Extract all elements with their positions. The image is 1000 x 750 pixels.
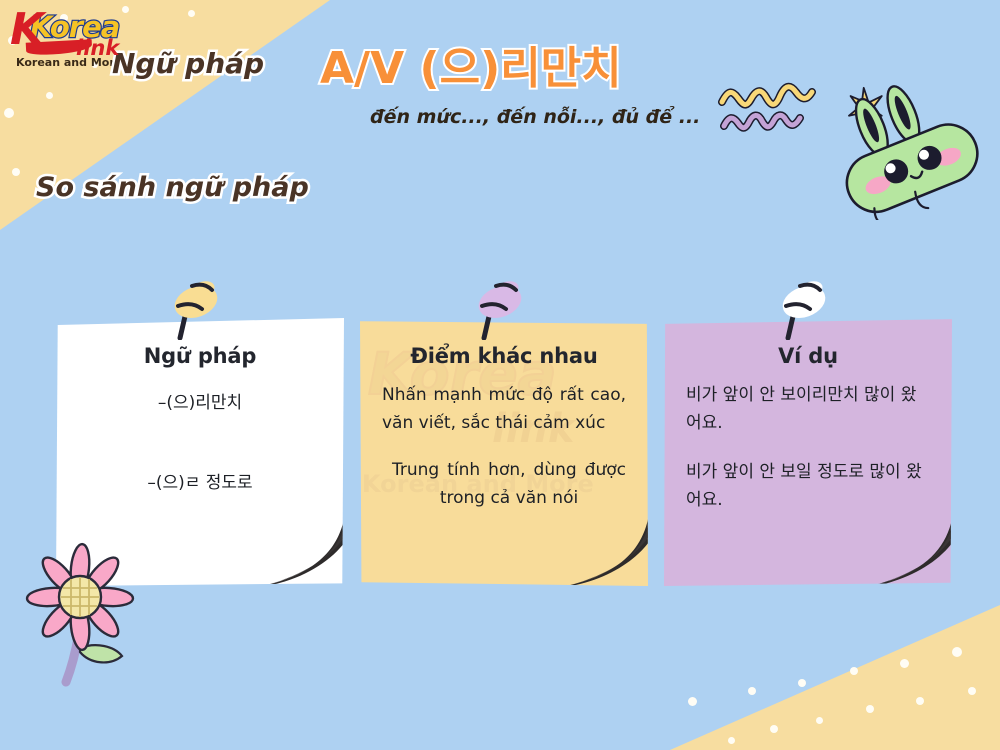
wedge-triangle xyxy=(670,605,1000,750)
polka-dot xyxy=(900,659,909,668)
polka-dot xyxy=(850,667,858,675)
card-title: Ví dụ xyxy=(686,344,930,368)
polka-dot xyxy=(816,717,823,724)
polka-dot xyxy=(46,92,53,99)
polka-dot xyxy=(968,687,976,695)
slide-canvas: Korea K link Korean and More Ngữ pháp A/… xyxy=(0,0,1000,750)
section-heading: So sánh ngữ pháp xyxy=(36,172,309,203)
polka-dot xyxy=(748,687,756,695)
page-curl xyxy=(557,514,649,588)
card-line-2: –(으)ㄹ 정도로 xyxy=(78,470,322,498)
corner-wedge-bottom-right xyxy=(670,605,1000,750)
topic-label: Ngữ pháp xyxy=(112,47,264,80)
white-pushpin xyxy=(764,276,836,340)
purple-pushpin xyxy=(460,276,532,340)
card-title: Điểm khác nhau xyxy=(382,344,626,368)
polka-dot xyxy=(866,705,874,713)
polka-dot xyxy=(188,10,195,17)
polka-dot xyxy=(12,168,20,176)
polka-dot xyxy=(916,697,924,705)
comparison-card-differences[interactable]: Korea link Korean and More Điểm khác nha… xyxy=(360,318,648,586)
green-bunny-mascot xyxy=(828,80,988,220)
card-line-2: Trung tính hơn, dùng được trong cả văn n… xyxy=(382,457,626,512)
card-title: Ngữ pháp xyxy=(78,344,322,368)
card-body: Điểm khác nhau Nhấn mạnh mức độ rất cao,… xyxy=(382,344,626,512)
polka-dot xyxy=(688,697,697,706)
polka-dot xyxy=(728,737,735,744)
squiggle-decoration xyxy=(718,78,828,138)
comparison-card-examples[interactable]: Ví dụ 비가 앞이 안 보이리만치 많이 왔어요. 비가 앞이 안 보일 정… xyxy=(664,318,952,586)
logo-k-letter: K xyxy=(10,4,44,55)
logo-link-text: link xyxy=(76,36,119,60)
card-line-1: 비가 앞이 안 보이리만치 많이 왔어요. xyxy=(686,382,930,437)
card-line-1: –(으)리만치 xyxy=(78,390,322,418)
page-curl xyxy=(861,514,953,588)
card-line-2: 비가 앞이 안 보일 정도로 많이 왔어요. xyxy=(686,459,930,514)
card-body: Ngữ pháp –(으)리만치 –(으)ㄹ 정도로 xyxy=(78,344,322,497)
polka-dot xyxy=(770,725,778,733)
page-curl xyxy=(253,514,345,588)
polka-dot xyxy=(4,108,14,118)
yellow-pushpin xyxy=(156,276,228,340)
pink-flower xyxy=(18,530,148,690)
page-title: A/V (으)리만치 xyxy=(320,32,622,96)
card-body: Ví dụ 비가 앞이 안 보이리만치 많이 왔어요. 비가 앞이 안 보일 정… xyxy=(686,344,930,514)
polka-dot xyxy=(952,647,962,657)
polka-dot xyxy=(798,679,806,687)
card-line-1: Nhấn mạnh mức độ rất cao, văn viết, sắc … xyxy=(382,382,626,437)
page-subtitle: đến mức..., đến nỗi..., đủ để ... xyxy=(370,106,700,128)
